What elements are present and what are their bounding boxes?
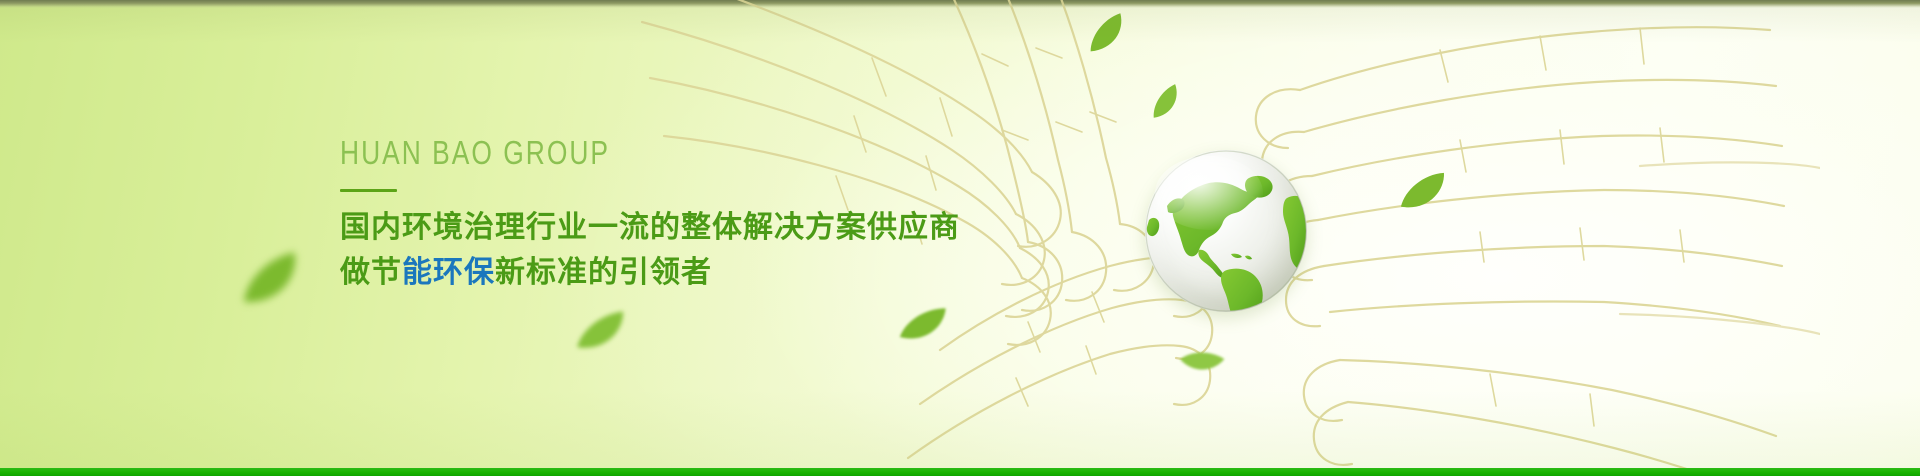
hero-text-block: HUAN BAO GROUP 国内环境治理行业一流的整体解决方案供应商 做节能环… <box>340 133 1040 294</box>
hero-banner: HUAN BAO GROUP 国内环境治理行业一流的整体解决方案供应商 做节能环… <box>0 0 1920 476</box>
headline-line-2-accent: 能环保 <box>402 255 495 290</box>
headline-line-1: 国内环境治理行业一流的整体解决方案供应商 <box>340 206 1040 249</box>
green-earth-globe <box>1145 150 1307 312</box>
headline-line-2-part-3: 新标准的引领者 <box>495 255 712 290</box>
headline-line-2: 做节能环保新标准的引领者 <box>340 251 1040 294</box>
leaf <box>568 308 636 360</box>
title-divider <box>340 189 397 192</box>
english-title: HUAN BAO GROUP <box>340 133 900 173</box>
leaf <box>231 247 315 317</box>
headline-line-2-part-1: 做节 <box>340 255 402 290</box>
bottom-accent-bar <box>0 468 1920 476</box>
